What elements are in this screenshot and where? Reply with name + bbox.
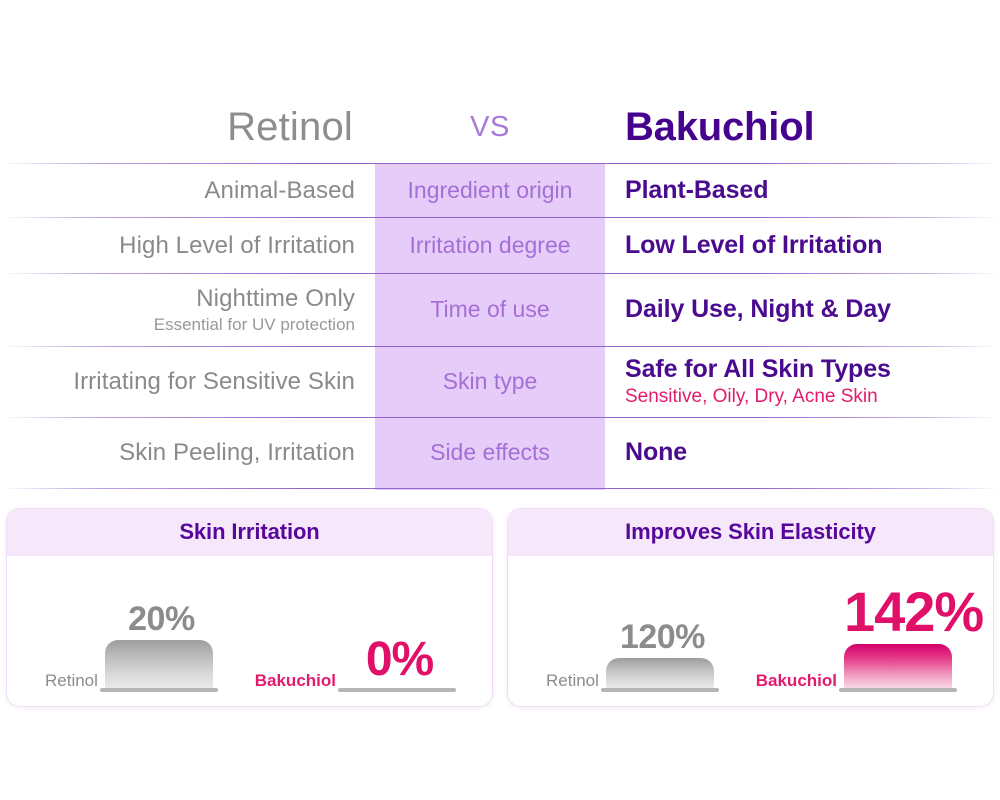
row-bakuchiol-value: Daily Use, Night & Day	[625, 295, 891, 325]
row-retinol-value: Skin Peeling, Irritation	[119, 439, 355, 467]
card-header: Skin Irritation	[7, 509, 492, 556]
bar-row: Retinol 120%	[546, 658, 719, 692]
table-row: Nighttime Only Essential for UV protecti…	[0, 274, 1000, 346]
row-attribute-label: Time of use	[430, 296, 549, 324]
row-attribute-cell: Time of use	[375, 274, 605, 346]
card-body: Retinol 20% Bakuchiol 0%	[7, 556, 492, 706]
bar-label-retinol: Retinol	[546, 671, 599, 692]
row-retinol-cell: Animal-Based	[0, 164, 375, 217]
row-attribute-label: Side effects	[430, 439, 550, 467]
row-bakuchiol-value: None	[625, 438, 687, 468]
table-rule	[0, 417, 1000, 418]
card-body: Retinol 120% Bakuchiol 142%	[508, 556, 993, 706]
row-bakuchiol-value: Safe for All Skin Types	[625, 355, 891, 385]
row-attribute-cell: Ingredient origin	[375, 164, 605, 217]
header-right-column: Bakuchiol	[605, 107, 1000, 147]
card-title: Skin Irritation	[179, 519, 319, 544]
row-bakuchiol-cell: Low Level of Irritation	[605, 218, 1000, 273]
comparison-infographic: Retinol VS Bakuchiol Animal-Based Ingred…	[0, 0, 1000, 800]
row-bakuchiol-cell: Daily Use, Night & Day	[605, 274, 1000, 346]
table-rule	[0, 217, 1000, 218]
row-attribute-label: Skin type	[443, 368, 538, 396]
table-rule	[0, 346, 1000, 347]
row-attribute-label: Ingredient origin	[408, 177, 573, 205]
bar-label-retinol: Retinol	[45, 671, 98, 692]
header-left-column: Retinol	[0, 107, 375, 147]
stat-cards: Skin Irritation Retinol 20% Ba	[0, 508, 1000, 707]
header-middle-column: VS	[375, 113, 605, 142]
table-row: Animal-Based Ingredient origin Plant-Bas…	[0, 164, 1000, 217]
table-rule-bottom	[0, 488, 1000, 489]
bar-row: Bakuchiol 142%	[756, 644, 957, 692]
bar-label-bakuchiol: Bakuchiol	[756, 671, 837, 692]
row-bakuchiol-value: Low Level of Irritation	[625, 231, 882, 261]
card-title: Improves Skin Elasticity	[625, 519, 876, 544]
table-rule	[0, 273, 1000, 274]
row-retinol-cell: High Level of Irritation	[0, 218, 375, 273]
bar-wrap: 120%	[606, 658, 719, 692]
row-retinol-value: Nighttime Only	[196, 285, 355, 313]
comparison-table: Animal-Based Ingredient origin Plant-Bas…	[0, 163, 1000, 489]
bar-group-retinol: Retinol 120%	[546, 658, 719, 692]
table-row: High Level of Irritation Irritation degr…	[0, 218, 1000, 273]
row-retinol-value: Irritating for Sensitive Skin	[73, 368, 355, 396]
bar-value-bakuchiol: 142%	[844, 584, 957, 640]
bar-baseline	[100, 688, 218, 692]
card-header: Improves Skin Elasticity	[508, 509, 993, 556]
stat-card-skin-elasticity: Improves Skin Elasticity Retinol 120%	[507, 508, 994, 707]
table-rule-top	[0, 163, 1000, 164]
bar-value-bakuchiol: 0%	[343, 636, 456, 684]
bar-baseline	[839, 688, 957, 692]
bar-group-bakuchiol: Bakuchiol 142%	[756, 644, 957, 692]
bar-row: Retinol 20%	[45, 640, 218, 692]
row-bakuchiol-cell: Plant-Based	[605, 164, 1000, 217]
header-bakuchiol-title: Bakuchiol	[625, 105, 814, 149]
bar-value-retinol: 20%	[105, 602, 218, 636]
bar-retinol	[606, 658, 714, 688]
row-bakuchiol-subtext: Sensitive, Oily, Dry, Acne Skin	[625, 385, 878, 409]
bar-group-bakuchiol: Bakuchiol 0%	[255, 671, 456, 692]
stat-card-skin-irritation: Skin Irritation Retinol 20% Ba	[6, 508, 493, 707]
header-retinol-title: Retinol	[227, 105, 353, 149]
row-retinol-cell: Nighttime Only Essential for UV protecti…	[0, 274, 375, 346]
row-retinol-subtext: Essential for UV protection	[154, 314, 355, 335]
row-retinol-value: Animal-Based	[204, 177, 355, 205]
row-bakuchiol-cell: Safe for All Skin Types Sensitive, Oily,…	[605, 347, 1000, 417]
row-attribute-cell: Side effects	[375, 418, 605, 488]
table-row: Skin Peeling, Irritation Side effects No…	[0, 418, 1000, 488]
row-attribute-label: Irritation degree	[409, 232, 570, 260]
bar-value-retinol: 120%	[606, 620, 719, 654]
bar-wrap: 142%	[844, 644, 957, 692]
bar-row: Bakuchiol 0%	[255, 671, 456, 692]
row-attribute-cell: Irritation degree	[375, 218, 605, 273]
bar-wrap: 0%	[343, 688, 456, 692]
table-row: Irritating for Sensitive Skin Skin type …	[0, 347, 1000, 417]
row-retinol-cell: Skin Peeling, Irritation	[0, 418, 375, 488]
row-bakuchiol-value: Plant-Based	[625, 176, 768, 206]
row-attribute-cell: Skin type	[375, 347, 605, 417]
bar-baseline	[601, 688, 719, 692]
row-retinol-value: High Level of Irritation	[119, 232, 355, 260]
bar-baseline	[338, 688, 456, 692]
comparison-header: Retinol VS Bakuchiol	[0, 96, 1000, 158]
bar-label-bakuchiol: Bakuchiol	[255, 671, 336, 692]
row-bakuchiol-cell: None	[605, 418, 1000, 488]
bar-wrap: 20%	[105, 640, 218, 692]
row-retinol-cell: Irritating for Sensitive Skin	[0, 347, 375, 417]
bar-retinol	[105, 640, 213, 688]
header-vs-label: VS	[470, 111, 510, 143]
bar-group-retinol: Retinol 20%	[45, 640, 218, 692]
bar-bakuchiol	[844, 644, 952, 688]
